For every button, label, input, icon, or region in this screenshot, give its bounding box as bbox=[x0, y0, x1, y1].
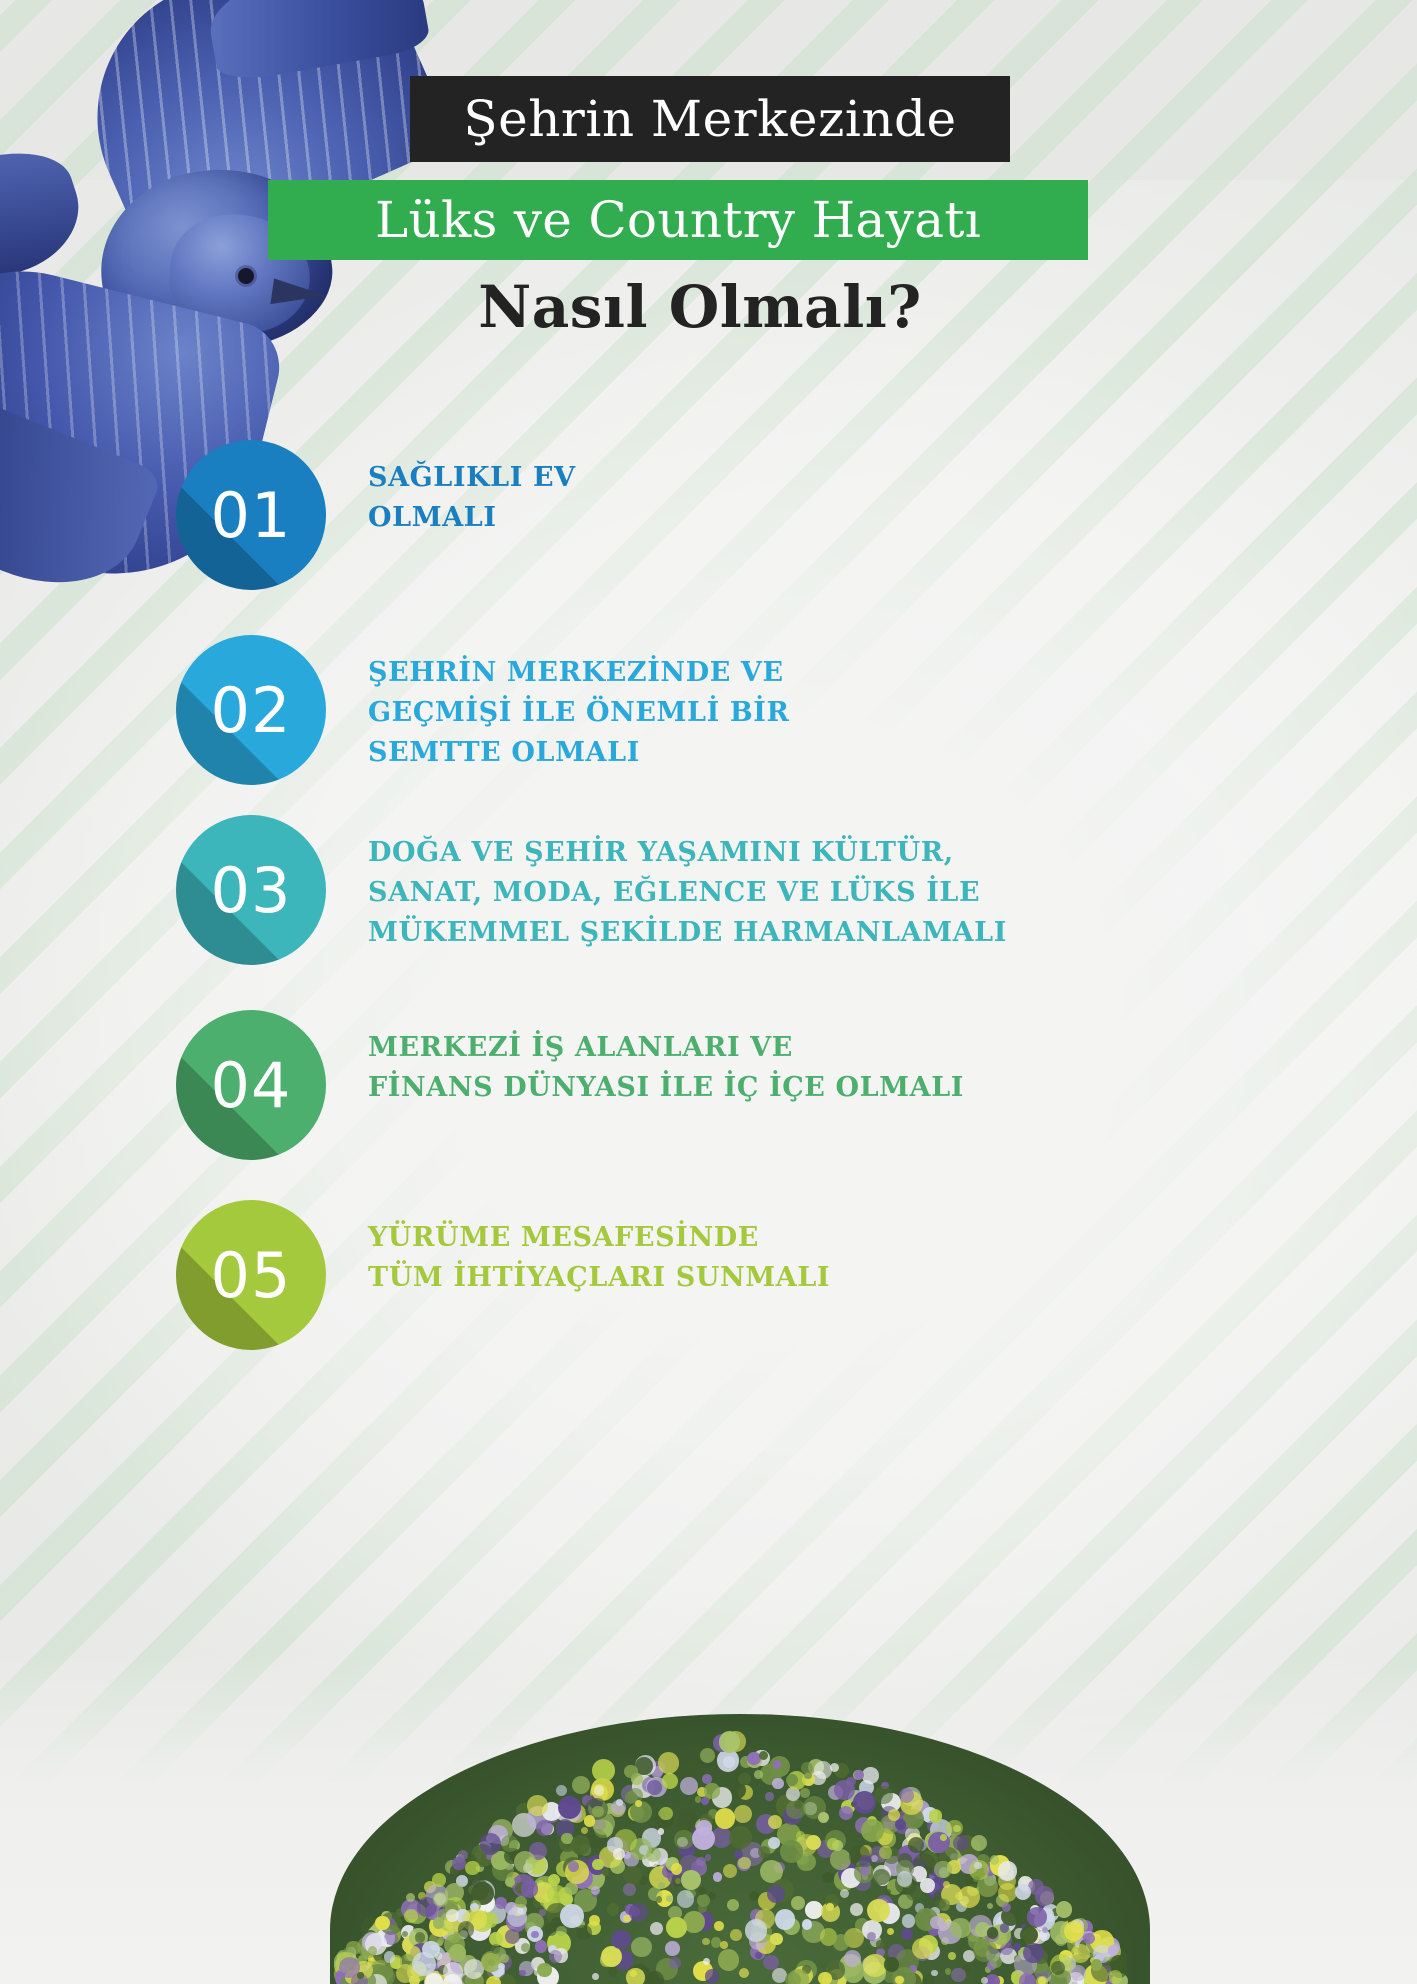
bird-eye bbox=[238, 268, 254, 284]
flower-dot bbox=[656, 1896, 662, 1902]
flower-dot bbox=[535, 1940, 547, 1952]
item-text-line: SANAT, MODA, EĞLENCE VE LÜKS İLE bbox=[368, 873, 1417, 913]
flower-dot bbox=[730, 1929, 742, 1941]
list-item[interactable]: 01SAĞLIKLI EVOLMALI bbox=[0, 440, 1417, 590]
flower-dot bbox=[452, 1857, 465, 1870]
flower-dot bbox=[946, 1820, 963, 1837]
flower-dot bbox=[839, 1806, 853, 1820]
item-text-line: TÜM İHTİYAÇLARI SUNMALI bbox=[368, 1258, 1417, 1298]
flower-dot bbox=[987, 1927, 998, 1938]
flower-dot bbox=[704, 1783, 719, 1798]
flower-dot bbox=[703, 1958, 710, 1965]
flower-dot bbox=[859, 1855, 872, 1868]
flower-dot bbox=[368, 1946, 378, 1956]
flower-dot bbox=[527, 1795, 547, 1815]
flower-dot bbox=[1019, 1973, 1035, 1984]
flower-dot bbox=[840, 1889, 849, 1898]
flower-dot bbox=[719, 1731, 741, 1753]
item-text-line: DOĞA VE ŞEHİR YAŞAMINI KÜLTÜR, bbox=[368, 833, 1417, 873]
item-number-badge[interactable]: 03 bbox=[176, 815, 326, 965]
flower-dot bbox=[895, 1819, 906, 1830]
flower-dot bbox=[674, 1830, 693, 1849]
flower-dot bbox=[818, 1972, 832, 1984]
flower-dot bbox=[973, 1876, 979, 1882]
flower-dot bbox=[611, 1930, 631, 1950]
flower-dot bbox=[432, 1873, 445, 1886]
flower-dot bbox=[931, 1970, 937, 1976]
item-number-label: 03 bbox=[211, 854, 292, 927]
flower-dot bbox=[705, 1969, 719, 1983]
flower-dot bbox=[592, 1759, 615, 1782]
flower-dot bbox=[713, 1872, 723, 1882]
flower-dot bbox=[867, 1899, 890, 1922]
flower-dot bbox=[658, 1752, 679, 1773]
flower-dot bbox=[677, 1890, 694, 1907]
flower-dot bbox=[1035, 1886, 1055, 1906]
flower-dot bbox=[1070, 1965, 1086, 1981]
flower-dot bbox=[827, 1838, 838, 1849]
flower-dot bbox=[1064, 1921, 1084, 1941]
flower-dot bbox=[531, 1931, 538, 1938]
flower-dot bbox=[802, 1919, 813, 1930]
flower-dot bbox=[902, 1914, 915, 1927]
item-text-line: SAĞLIKLI EV bbox=[368, 458, 1417, 498]
item-text-block: DOĞA VE ŞEHİR YAŞAMINI KÜLTÜR,SANAT, MOD… bbox=[326, 815, 1417, 953]
flower-dot bbox=[491, 1944, 500, 1953]
flower-dot bbox=[727, 1899, 739, 1911]
flower-dot bbox=[714, 1921, 724, 1931]
item-number-badge-wrap: 04 bbox=[176, 1010, 326, 1160]
flower-dot bbox=[765, 1792, 773, 1800]
flower-dot bbox=[814, 1761, 832, 1779]
list-item[interactable]: 03DOĞA VE ŞEHİR YAŞAMINI KÜLTÜR,SANAT, M… bbox=[0, 815, 1417, 965]
item-number-label: 05 bbox=[211, 1239, 292, 1312]
flower-dot bbox=[1108, 1945, 1118, 1955]
item-text-line: GEÇMİŞİ İLE ÖNEMLİ BİR bbox=[368, 693, 1417, 733]
flower-dot bbox=[729, 1826, 752, 1849]
flower-dot bbox=[934, 1861, 952, 1879]
flower-dot bbox=[879, 1846, 891, 1858]
flower-dot bbox=[647, 1780, 661, 1794]
bird-beak bbox=[270, 278, 327, 311]
flower-dot bbox=[357, 1972, 363, 1978]
flower-dot bbox=[650, 1922, 663, 1935]
flower-dot bbox=[755, 1952, 761, 1958]
item-text-line: MERKEZİ İŞ ALANLARI VE bbox=[368, 1028, 1417, 1068]
flower-dot bbox=[646, 1847, 661, 1862]
flower-dot bbox=[589, 1915, 600, 1926]
flower-dot bbox=[860, 1866, 870, 1876]
flower-dot bbox=[486, 1976, 501, 1984]
flower-dot bbox=[888, 1809, 900, 1821]
item-text-block: YÜRÜME MESAFESİNDETÜM İHTİYAÇLARI SUNMAL… bbox=[326, 1200, 1417, 1298]
flower-dot bbox=[696, 1857, 705, 1866]
flower-dot bbox=[635, 1800, 642, 1807]
flower-dot bbox=[458, 1921, 475, 1938]
flower-garden bbox=[0, 1644, 1417, 1984]
flower-dot bbox=[1038, 1977, 1047, 1984]
title-band-dark: Şehrin Merkezinde bbox=[410, 76, 1010, 162]
flower-dot bbox=[558, 1796, 581, 1819]
flower-dot bbox=[681, 1870, 701, 1890]
flower-dot bbox=[796, 1831, 805, 1840]
flower-dot bbox=[572, 1776, 590, 1794]
flower-dot bbox=[449, 1944, 467, 1962]
flower-dot bbox=[930, 1916, 943, 1929]
flower-dot bbox=[908, 1837, 924, 1853]
item-text-line: YÜRÜME MESAFESİNDE bbox=[368, 1218, 1417, 1258]
flower-dot bbox=[739, 1968, 749, 1978]
flower-dot bbox=[854, 1770, 864, 1780]
flower-dot bbox=[584, 1815, 596, 1827]
flower-dot bbox=[701, 1797, 709, 1805]
flower-dot bbox=[375, 1916, 390, 1931]
flower-dot bbox=[631, 1937, 652, 1958]
flower-dot bbox=[495, 1897, 507, 1909]
flower-dot bbox=[958, 1886, 980, 1908]
flower-dot bbox=[702, 1774, 712, 1784]
item-number-badge[interactable]: 01 bbox=[176, 440, 326, 590]
flower-dot bbox=[602, 1868, 610, 1876]
list-item[interactable]: 04MERKEZİ İŞ ALANLARI VEFİNANS DÜNYASI İ… bbox=[0, 1010, 1417, 1160]
item-number-badge[interactable]: 05 bbox=[176, 1200, 326, 1350]
flower-dot bbox=[759, 1751, 768, 1760]
flower-dot bbox=[768, 1837, 780, 1849]
flower-dot bbox=[521, 1880, 539, 1898]
flower-dot bbox=[560, 1904, 584, 1928]
flower-dot bbox=[723, 1756, 735, 1768]
flower-dot bbox=[404, 1909, 418, 1923]
flower-dot bbox=[895, 1976, 904, 1984]
flower-dot bbox=[763, 1955, 778, 1970]
flower-dot bbox=[822, 1872, 834, 1884]
item-number-label: 01 bbox=[211, 479, 292, 552]
flower-dot bbox=[1000, 1923, 1010, 1933]
list-item[interactable]: 05YÜRÜME MESAFESİNDETÜM İHTİYAÇLARI SUNM… bbox=[0, 1200, 1417, 1350]
flower-dot bbox=[853, 1791, 876, 1814]
flower-dot bbox=[705, 1854, 711, 1860]
flower-dot bbox=[658, 1810, 665, 1817]
flower-dot bbox=[1091, 1959, 1103, 1971]
flower-dot bbox=[519, 1970, 526, 1977]
flower-dot bbox=[738, 1773, 751, 1786]
flower-dot bbox=[794, 1801, 802, 1809]
flower-dot bbox=[805, 1901, 823, 1919]
flower-dot bbox=[948, 1952, 956, 1960]
flower-dot bbox=[540, 1899, 546, 1905]
flower-dot bbox=[433, 1917, 445, 1929]
title-line-1: Şehrin Merkezinde bbox=[410, 76, 1010, 162]
flower-dot bbox=[514, 1851, 536, 1873]
flower-dot bbox=[971, 1835, 987, 1851]
flower-dot bbox=[507, 1907, 527, 1927]
item-text-block: SAĞLIKLI EVOLMALI bbox=[326, 440, 1417, 538]
flower-dot bbox=[556, 1926, 567, 1937]
flower-dot bbox=[758, 1846, 770, 1858]
flower-dot bbox=[884, 1957, 898, 1971]
flower-dot bbox=[950, 1918, 970, 1938]
flower-dot bbox=[973, 1939, 996, 1962]
flower-dot bbox=[1027, 1907, 1046, 1926]
flower-dot bbox=[630, 1970, 637, 1977]
flower-dot bbox=[901, 1928, 913, 1940]
flower-dot bbox=[402, 1931, 408, 1937]
title-line-2: Lüks ve Country Hayatı bbox=[268, 180, 1088, 260]
item-text-block: ŞEHRİN MERKEZİNDE VEGEÇMİŞİ İLE ÖNEMLİ B… bbox=[326, 635, 1417, 773]
flower-dot bbox=[720, 1941, 727, 1948]
flower-dot bbox=[666, 1895, 673, 1902]
flower-dot bbox=[505, 1929, 520, 1944]
flower-dot bbox=[696, 1820, 712, 1836]
flower-dot bbox=[501, 1835, 518, 1852]
flower-dot bbox=[665, 1941, 680, 1956]
flower-dot bbox=[834, 1780, 855, 1801]
flower-dot bbox=[480, 1833, 501, 1854]
flower-dot bbox=[607, 1903, 619, 1915]
flower-dot bbox=[867, 1932, 876, 1941]
flower-dot bbox=[433, 1892, 448, 1907]
item-number-badge-wrap: 01 bbox=[176, 440, 326, 590]
flower-dot bbox=[666, 1917, 687, 1938]
item-text-line: OLMALI bbox=[368, 498, 1417, 538]
flower-dot bbox=[539, 1909, 545, 1915]
flower-dot bbox=[671, 1863, 682, 1874]
flower-dot bbox=[800, 1788, 809, 1797]
flower-dot bbox=[415, 1932, 426, 1943]
item-text-line: MÜKEMMEL ŞEKİLDE HARMANLAMALI bbox=[368, 913, 1417, 953]
flower-dot bbox=[680, 1777, 698, 1795]
flower-dot bbox=[521, 1943, 530, 1952]
item-text-line: ŞEHRİN MERKEZİNDE VE bbox=[368, 653, 1417, 693]
flower-dot bbox=[505, 1877, 515, 1887]
flower-dot bbox=[624, 1765, 637, 1778]
flower-dot bbox=[943, 1881, 950, 1888]
flower-dot bbox=[833, 1934, 849, 1950]
item-text-line: SEMTTE OLMALI bbox=[368, 733, 1417, 773]
flower-dot bbox=[734, 1805, 752, 1823]
flower-dot bbox=[818, 1812, 829, 1823]
item-number-badge-wrap: 02 bbox=[176, 635, 326, 785]
flower-dot bbox=[874, 1786, 892, 1804]
flower-dot bbox=[623, 1883, 636, 1896]
flower-dot bbox=[806, 1835, 821, 1850]
flower-dot bbox=[702, 1938, 709, 1945]
poster-root: Şehrin Merkezinde Lüks ve Country Hayatı… bbox=[0, 0, 1417, 1984]
item-number-label: 04 bbox=[211, 1049, 292, 1122]
flower-dot bbox=[698, 1904, 707, 1913]
flower-dot bbox=[974, 1862, 982, 1870]
list-item[interactable]: 02ŞEHRİN MERKEZİNDE VEGEÇMİŞİ İLE ÖNEMLİ… bbox=[0, 635, 1417, 785]
flower-dot bbox=[862, 1767, 879, 1784]
flower-dot bbox=[594, 1785, 605, 1796]
flower-dot bbox=[571, 1835, 590, 1854]
title-band-green: Lüks ve Country Hayatı bbox=[268, 180, 1088, 260]
flower-dot bbox=[897, 1871, 912, 1886]
flower-dot bbox=[940, 1834, 947, 1841]
flower-dot bbox=[775, 1909, 796, 1930]
flower-dot bbox=[613, 1848, 625, 1860]
flower-dot bbox=[623, 1866, 641, 1884]
flower-dot bbox=[592, 1973, 599, 1980]
item-number-badge-wrap: 03 bbox=[176, 815, 326, 965]
flower-dot bbox=[998, 1861, 1017, 1880]
item-text-line: FİNANS DÜNYASI İLE İÇ İÇE OLMALI bbox=[368, 1068, 1417, 1108]
flower-dot bbox=[698, 1887, 706, 1895]
flower-dot bbox=[773, 1760, 782, 1769]
flower-dot bbox=[629, 1903, 648, 1922]
flower-dot bbox=[616, 1799, 623, 1806]
flower-dot bbox=[951, 1968, 966, 1983]
flower-dot bbox=[646, 1971, 664, 1984]
flower-dot bbox=[987, 1903, 993, 1909]
flower-dot bbox=[876, 1940, 884, 1948]
flower-dot bbox=[770, 1933, 782, 1945]
flower-dot bbox=[465, 1861, 479, 1875]
item-number-label: 02 bbox=[211, 674, 292, 747]
flower-dot bbox=[1109, 1970, 1122, 1983]
item-text-block: MERKEZİ İŞ ALANLARI VEFİNANS DÜNYASI İLE… bbox=[326, 1010, 1417, 1108]
item-number-badge[interactable]: 02 bbox=[176, 635, 326, 785]
flower-dot bbox=[446, 1909, 459, 1922]
item-number-badge-wrap: 05 bbox=[176, 1200, 326, 1350]
flower-dot bbox=[576, 1925, 592, 1941]
flower-dot bbox=[745, 1919, 767, 1941]
item-number-badge[interactable]: 04 bbox=[176, 1010, 326, 1160]
flower-dot bbox=[1056, 1901, 1072, 1917]
flower-dot bbox=[738, 1857, 751, 1870]
flower-dot bbox=[1071, 1944, 1090, 1963]
flower-dot bbox=[1023, 1943, 1043, 1963]
flower-dot bbox=[1042, 1927, 1048, 1933]
title-line-3: Nasıl Olmalı? bbox=[330, 272, 1070, 342]
flower-dot bbox=[788, 1969, 808, 1984]
flower-dot bbox=[873, 1869, 890, 1886]
flower-dot bbox=[990, 1855, 1000, 1865]
flower-dot bbox=[412, 1952, 436, 1976]
flower-dot bbox=[830, 1849, 850, 1869]
